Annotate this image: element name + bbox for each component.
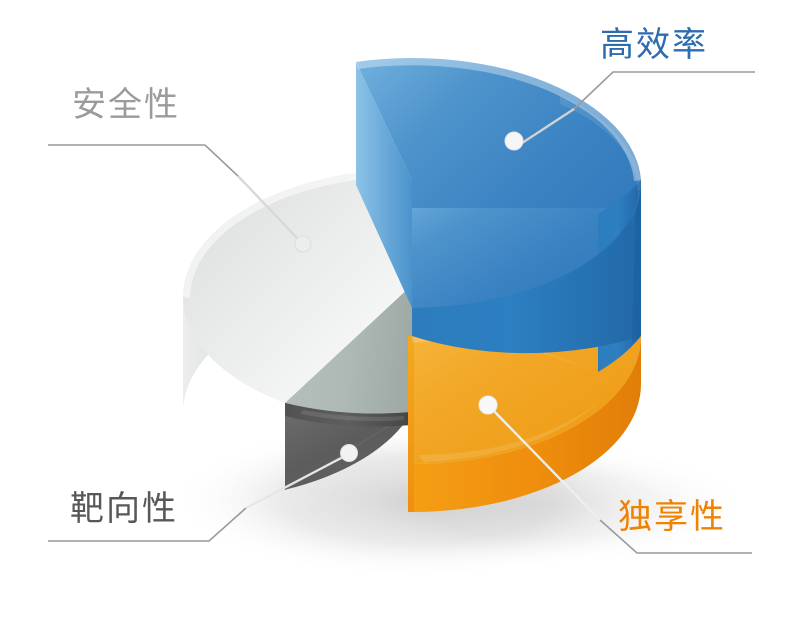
slice-label-security[interactable]: 安全性 <box>72 88 180 122</box>
slice-label-targeting[interactable]: 靶向性 <box>70 492 178 526</box>
callout-dot-targeting <box>341 445 358 462</box>
slice-label-efficiency[interactable]: 高效率 <box>600 28 708 62</box>
callout-dot-exclusive <box>479 396 497 414</box>
callout-dot-security <box>295 236 311 252</box>
slice-label-exclusive[interactable]: 独享性 <box>618 500 726 534</box>
infographic-canvas: 高效率 安全性 靶向性 独享性 <box>0 0 800 636</box>
callout-dot-efficiency <box>505 132 523 150</box>
